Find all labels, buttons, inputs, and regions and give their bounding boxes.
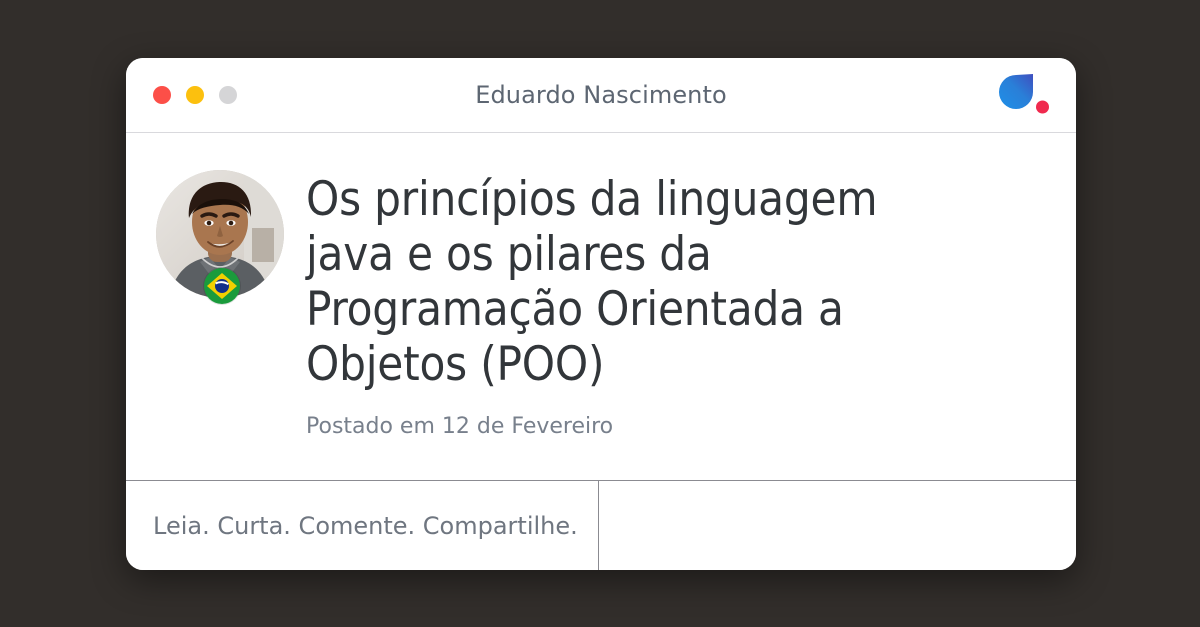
- window-title: Eduardo Nascimento: [126, 81, 1076, 109]
- window-card: Eduardo Nascimento: [126, 58, 1076, 570]
- footer-left-panel: Leia. Curta. Comente. Compartilhe.: [126, 481, 599, 570]
- brand-droplet-icon[interactable]: [997, 72, 1053, 118]
- post-body: Os princípios da linguagem java e os pil…: [126, 133, 1076, 480]
- footer-tagline: Leia. Curta. Comente. Compartilhe.: [153, 512, 578, 540]
- brazil-flag-icon: [204, 268, 240, 304]
- window-title-bar: Eduardo Nascimento: [126, 58, 1076, 133]
- post-text-block: Os princípios da linguagem java e os pil…: [306, 170, 1044, 480]
- post-title[interactable]: Os princípios da linguagem java e os pil…: [306, 172, 956, 392]
- author-avatar-wrap[interactable]: [156, 170, 284, 298]
- card-footer: Leia. Curta. Comente. Compartilhe.: [126, 480, 1076, 570]
- footer-right-panel: [599, 481, 1076, 570]
- post-date: Postado em 12 de Fevereiro: [306, 414, 1044, 439]
